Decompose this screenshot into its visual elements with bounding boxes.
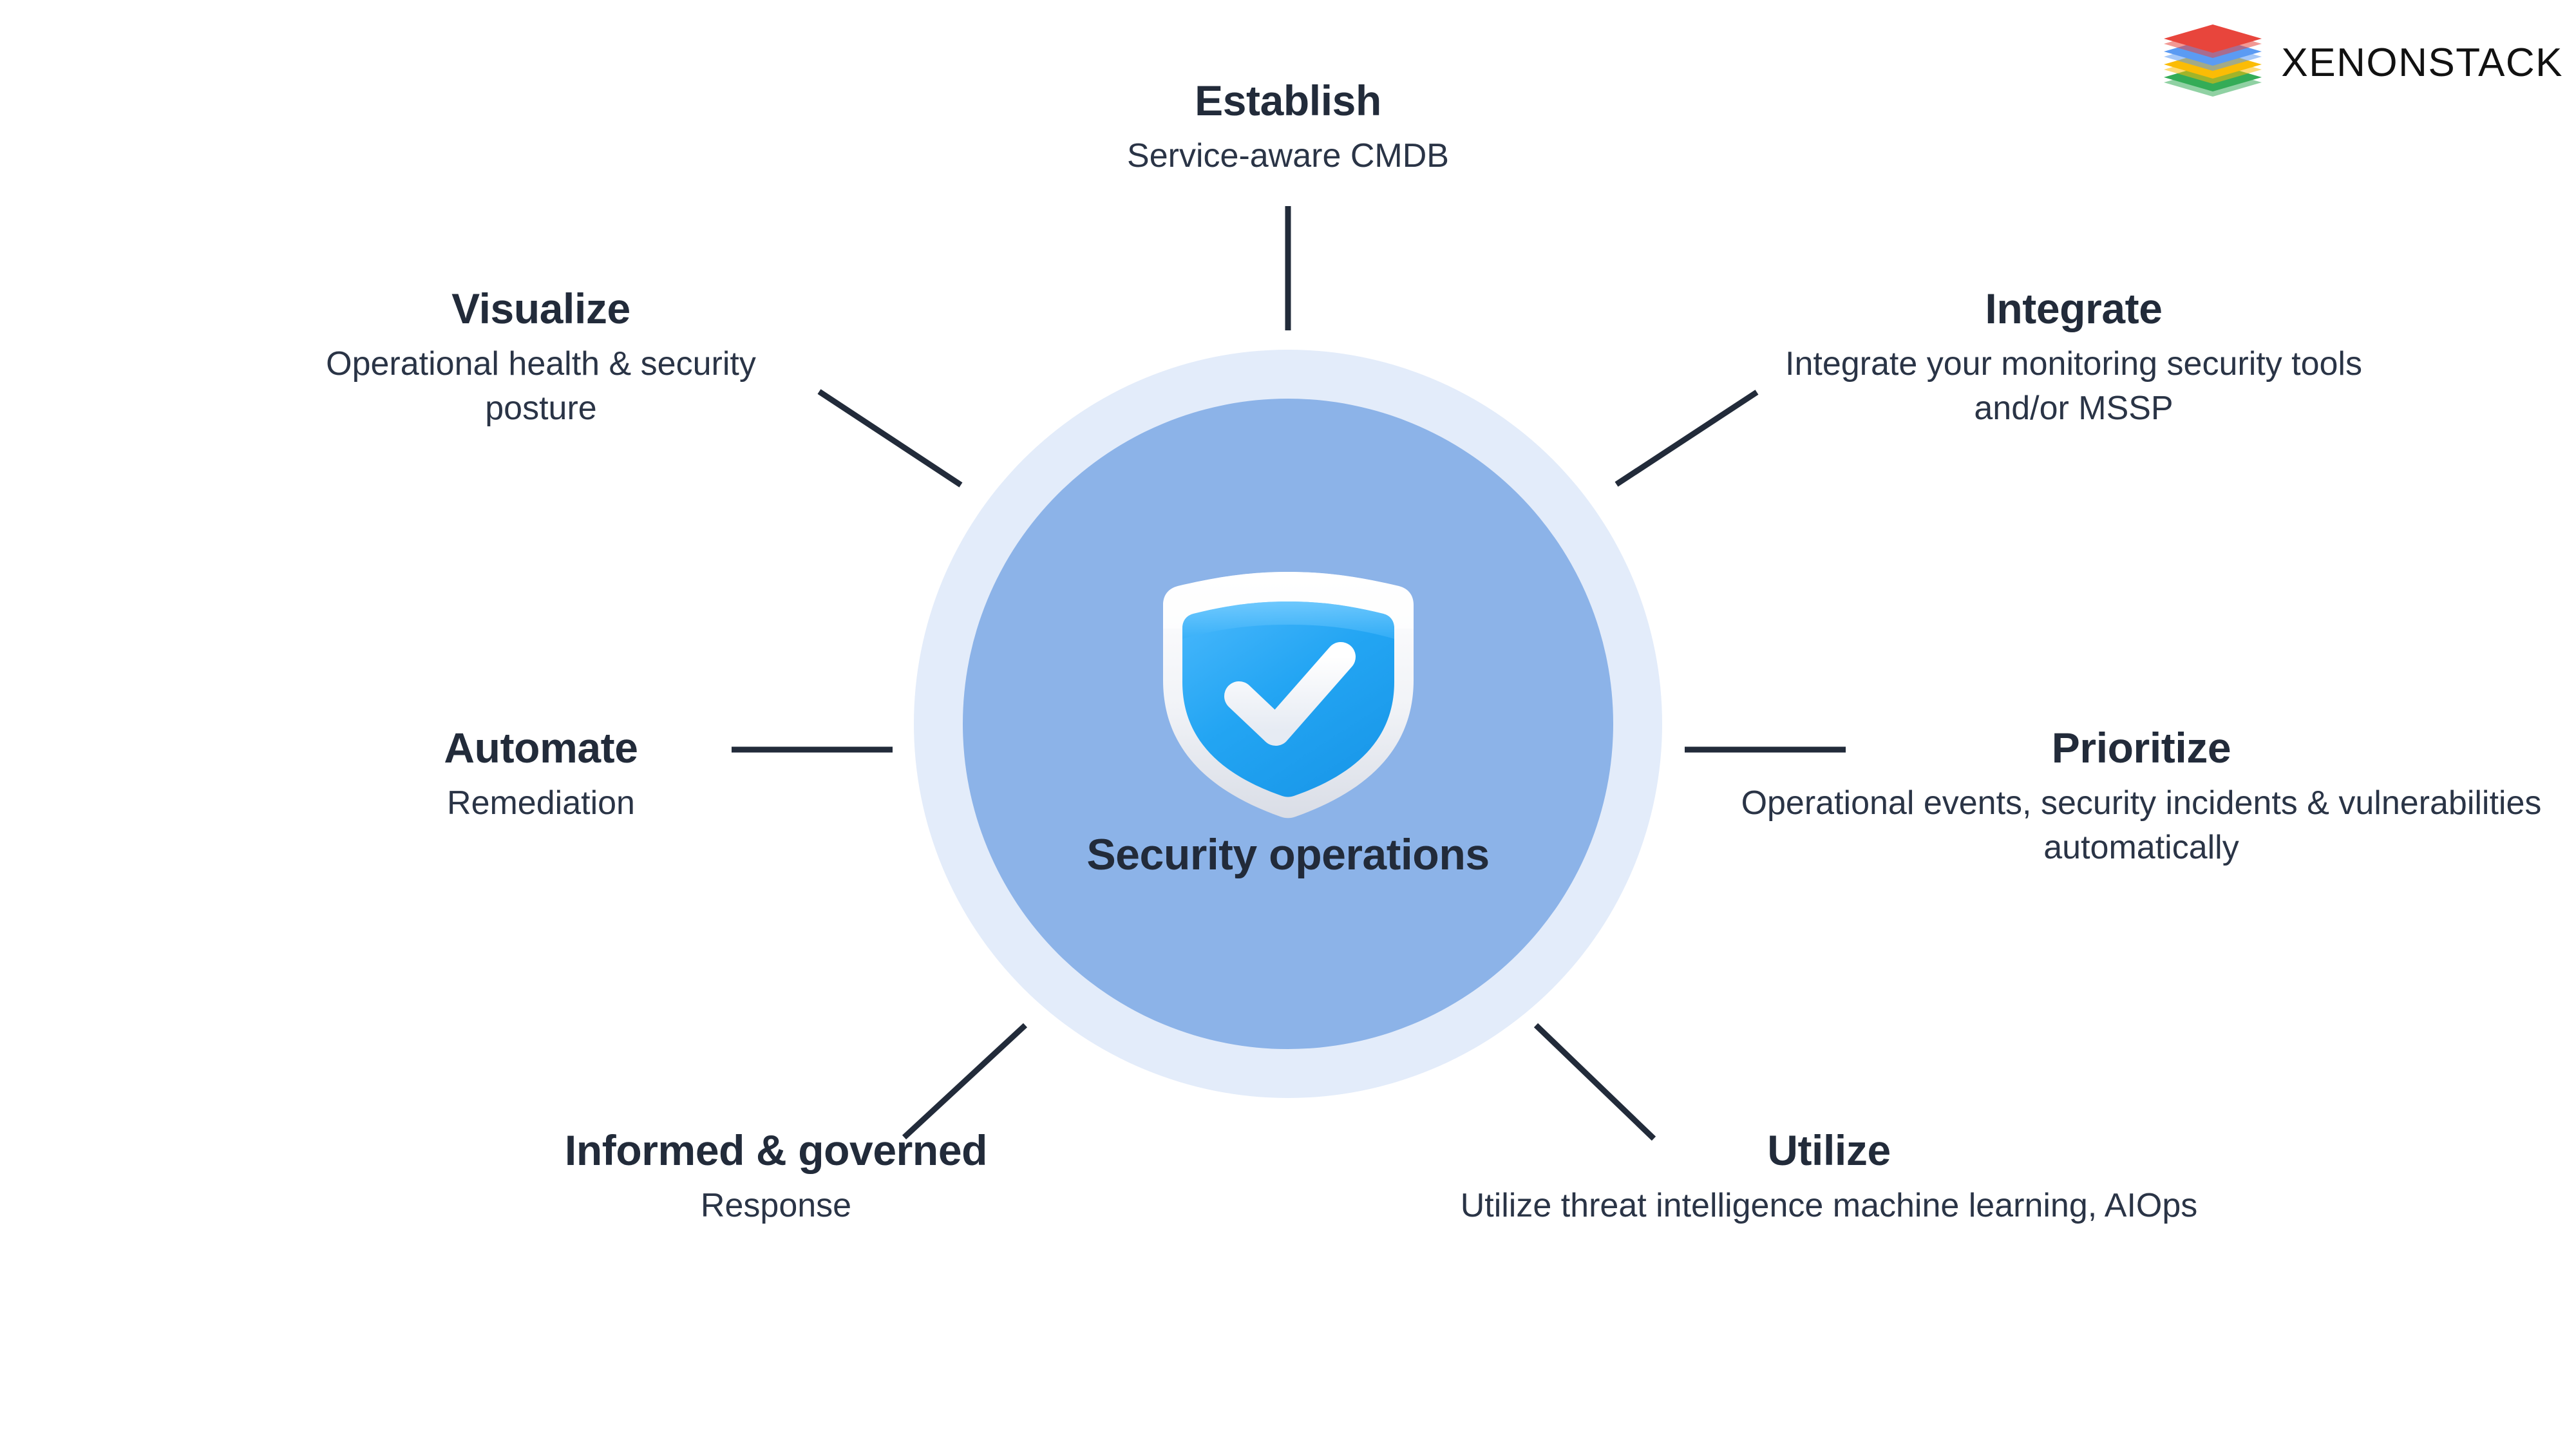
center-label: Security operations [963, 831, 1613, 879]
node-visualize: Visualize Operational health & security … [270, 285, 811, 431]
node-automate-desc: Remediation [283, 781, 799, 826]
node-automate-title: Automate [283, 724, 799, 772]
node-integrate-title: Integrate [1784, 285, 2363, 333]
connector-utilize [1536, 1025, 1654, 1139]
node-prioritize: Prioritize Operational events, security … [1739, 724, 2544, 870]
node-establish-title: Establish [902, 77, 1674, 125]
node-automate: Automate Remediation [283, 724, 799, 826]
node-integrate: Integrate Integrate your monitoring secu… [1784, 285, 2363, 431]
node-informed-governed-title: Informed & governed [412, 1127, 1140, 1175]
connector-informed [904, 1025, 1025, 1137]
node-visualize-desc: Operational health & security posture [270, 342, 811, 431]
brand-logo: XENONSTACK [2159, 18, 2563, 108]
connector-integrate [1616, 392, 1757, 484]
node-visualize-title: Visualize [270, 285, 811, 333]
node-utilize-desc: Utilize threat intelligence machine lear… [1443, 1184, 2215, 1228]
node-utilize-title: Utilize [1443, 1127, 2215, 1175]
diagram-canvas: XENONSTACK [0, 0, 2576, 1449]
node-informed-governed: Informed & governed Response [412, 1127, 1140, 1228]
node-establish: Establish Service-aware CMDB [902, 77, 1674, 178]
node-prioritize-title: Prioritize [1739, 724, 2544, 772]
node-integrate-desc: Integrate your monitoring security tools… [1784, 342, 2363, 431]
node-utilize: Utilize Utilize threat intelligence mach… [1443, 1127, 2215, 1228]
shield-check-icon [1139, 564, 1438, 822]
connector-visualize [819, 392, 961, 485]
node-informed-governed-desc: Response [412, 1184, 1140, 1228]
stacked-layers-logo-icon [2159, 18, 2267, 108]
node-establish-desc: Service-aware CMDB [902, 134, 1674, 178]
brand-wordmark: XENONSTACK [2281, 43, 2563, 83]
node-prioritize-desc: Operational events, security incidents &… [1739, 781, 2544, 870]
